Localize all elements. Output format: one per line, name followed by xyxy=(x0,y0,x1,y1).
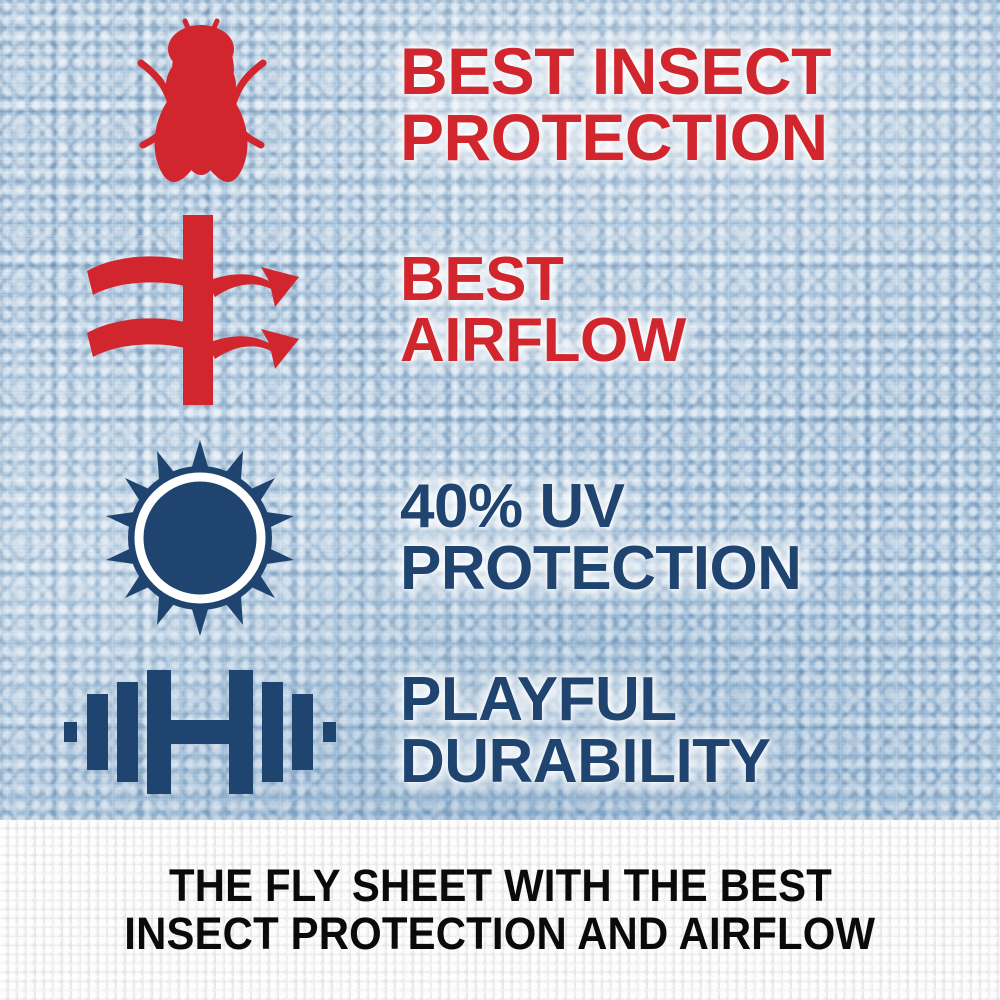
caption-line-1: THE FLY SHEET WITH THE BEST xyxy=(168,862,831,910)
feature-label-uv-protection: 40% UV PROTECTION xyxy=(400,476,1000,599)
feature-list: BEST INSECT PROTECTION BEST AIRFLOW xyxy=(0,0,1000,820)
feature-icon-cell xyxy=(0,666,400,796)
feature-text-cell: BEST INSECT PROTECTION xyxy=(400,39,1000,170)
feature-text-cell: BEST AIRFLOW xyxy=(400,249,1000,372)
sun-burst-icon xyxy=(100,438,300,638)
feature-row-airflow: BEST AIRFLOW xyxy=(0,205,1000,415)
fly-icon xyxy=(113,15,288,195)
feature-row-uv-protection: 40% UV PROTECTION xyxy=(0,430,1000,645)
feature-label-insect-protection: BEST INSECT PROTECTION xyxy=(400,39,1000,170)
caption-panel: THE FLY SHEET WITH THE BEST INSECT PROTE… xyxy=(0,820,1000,1000)
dumbbell-icon xyxy=(64,666,336,796)
feature-icon-cell xyxy=(0,215,400,405)
feature-text-cell: 40% UV PROTECTION xyxy=(400,476,1000,599)
feature-row-durability: PLAYFUL DURABILITY xyxy=(0,648,1000,813)
feature-icon-cell xyxy=(0,438,400,638)
feature-row-insect-protection: BEST INSECT PROTECTION xyxy=(0,12,1000,197)
feature-label-airflow: BEST AIRFLOW xyxy=(400,249,1000,372)
feature-label-durability: PLAYFUL DURABILITY xyxy=(400,669,1000,792)
airflow-arrows-icon xyxy=(85,215,315,405)
product-feature-poster: BEST INSECT PROTECTION BEST AIRFLOW xyxy=(0,0,1000,1000)
feature-icon-cell xyxy=(0,15,400,195)
caption-line-2: INSECT PROTECTION AND AIRFLOW xyxy=(125,910,876,958)
feature-text-cell: PLAYFUL DURABILITY xyxy=(400,669,1000,792)
